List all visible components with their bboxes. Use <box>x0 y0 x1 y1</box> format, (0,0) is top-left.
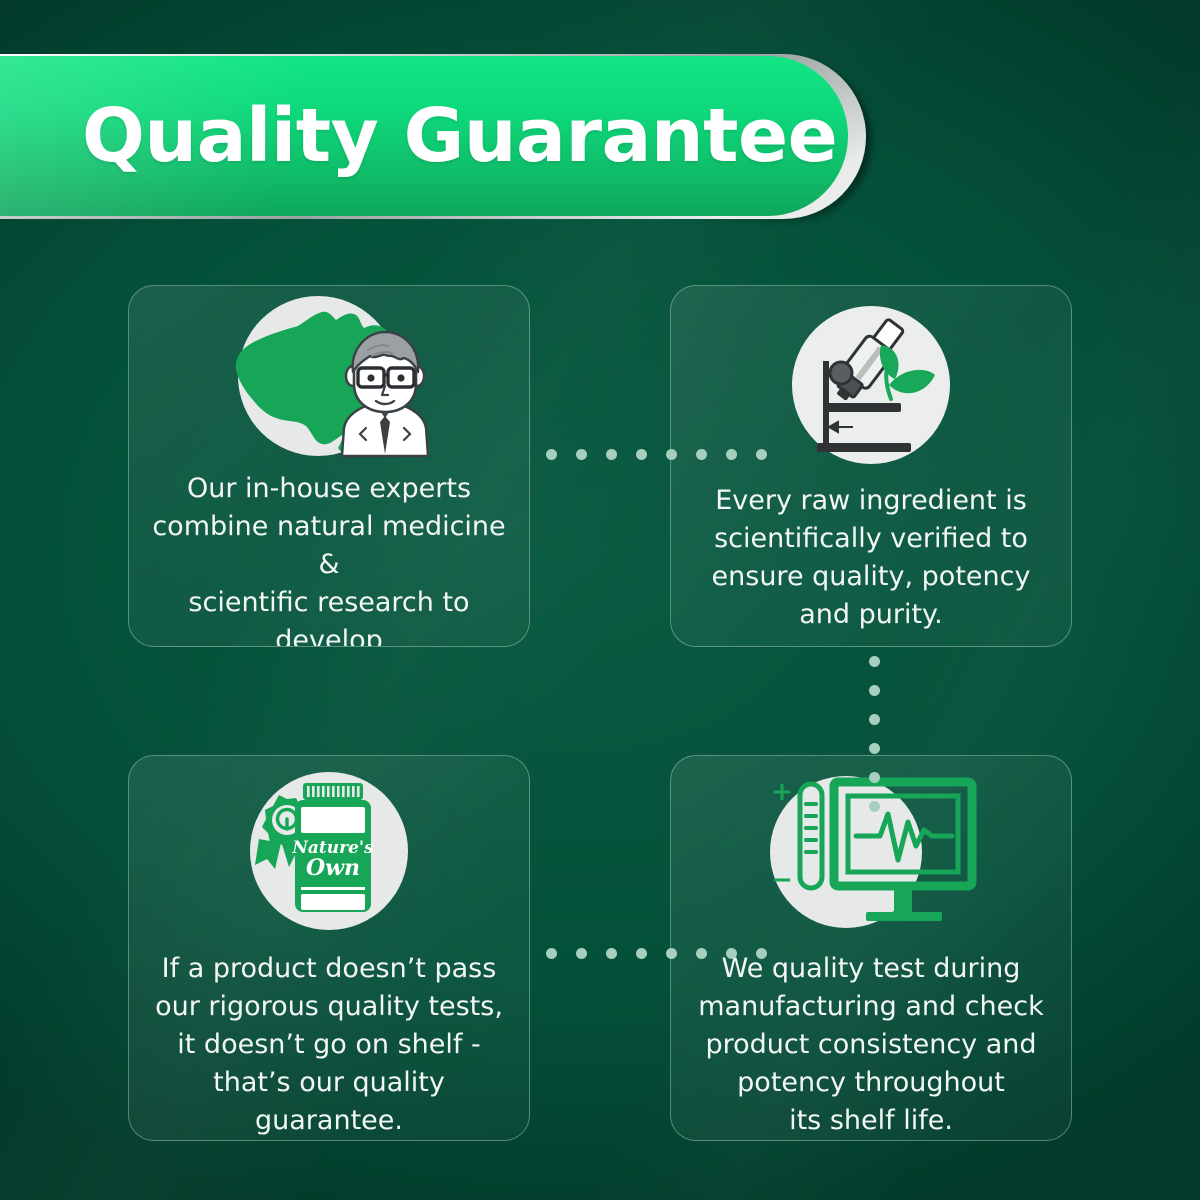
connector-dot <box>546 948 557 959</box>
connector-dot <box>869 743 880 754</box>
connector-dot <box>666 449 677 460</box>
connector-dot <box>869 714 880 725</box>
connector-dot <box>636 948 647 959</box>
connector-dot <box>636 449 647 460</box>
australia-map-scientist-icon <box>214 290 444 468</box>
connector-dot <box>546 449 557 460</box>
thermometer-plus-label: + <box>771 777 793 807</box>
page-title: Quality Guarantee <box>82 99 837 173</box>
brand-line-2: Own <box>306 855 360 881</box>
card-description: If a product doesn’t pass our rigorous q… <box>129 950 529 1140</box>
microscope-leaf-icon <box>781 295 961 475</box>
connector-dot <box>756 948 767 959</box>
connector-dots-bottom-horizontal <box>546 948 767 959</box>
thermometer-minus-label: − <box>771 865 793 895</box>
card-raw-ingredient-verified[interactable]: Every raw ingredient is scientifically v… <box>670 285 1072 647</box>
connector-dot <box>696 449 707 460</box>
connector-dot <box>869 685 880 696</box>
card-description: Our in-house experts combine natural med… <box>129 470 529 647</box>
connector-dot <box>869 656 880 667</box>
connector-dot <box>726 948 737 959</box>
supplement-bottle-award-icon: Nature's Own <box>231 763 427 943</box>
connector-dot <box>756 449 767 460</box>
header-banner: Quality Guarantee <box>0 54 890 222</box>
connector-dot <box>869 772 880 783</box>
connector-dot <box>666 948 677 959</box>
connector-dot <box>576 948 587 959</box>
connector-dots-top-horizontal <box>546 449 767 460</box>
card-grid: Our in-house experts combine natural med… <box>128 285 1072 1141</box>
quality-guarantee-poster: Quality Guarantee <box>0 0 1200 1200</box>
icon-zone: Nature's Own <box>129 762 529 944</box>
connector-dot <box>606 449 617 460</box>
icon-zone <box>129 290 529 468</box>
banner-fill: Quality Guarantee <box>0 56 848 216</box>
card-rigorous-quality-tests[interactable]: Nature's Own If a product doesn’t pass o… <box>128 755 530 1141</box>
connector-dots-right-vertical <box>869 656 880 812</box>
connector-dot <box>606 948 617 959</box>
card-description: Every raw ingredient is scientifically v… <box>698 482 1045 634</box>
card-description: We quality test during manufacturing and… <box>684 950 1058 1140</box>
connector-dot <box>696 948 707 959</box>
connector-dot <box>576 449 587 460</box>
connector-dot <box>726 449 737 460</box>
card-in-house-experts[interactable]: Our in-house experts combine natural med… <box>128 285 530 647</box>
connector-dot <box>869 801 880 812</box>
